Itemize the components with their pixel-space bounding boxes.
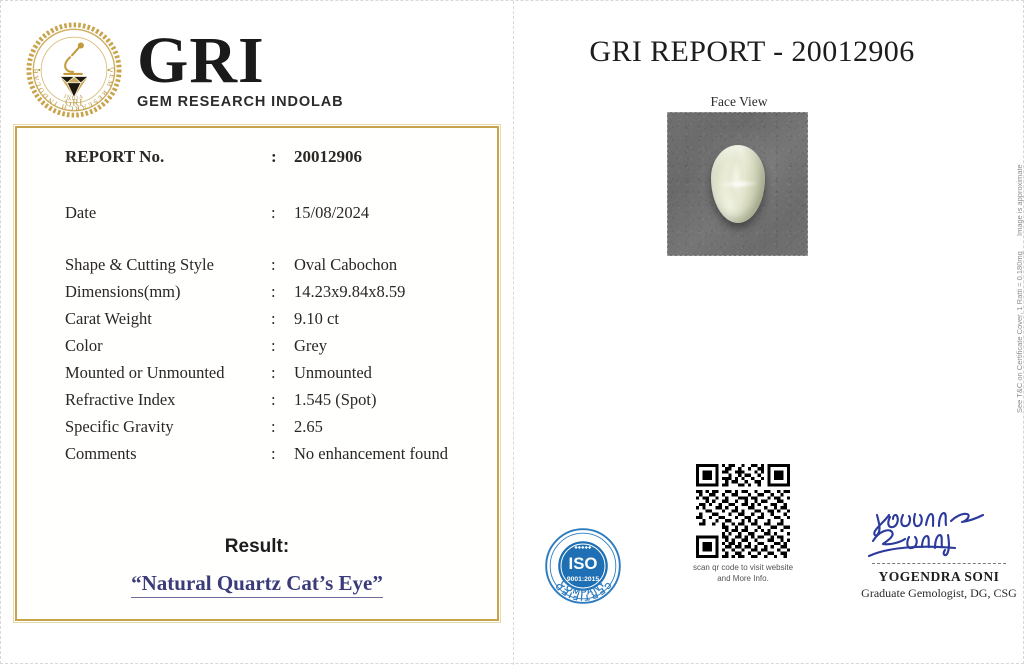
gemstone-photo	[667, 112, 808, 256]
row-value: 15/08/2024	[294, 203, 448, 255]
signature-section: YOGENDRA SONI Graduate Gemologist, DG, C…	[853, 501, 1024, 601]
gri-seal-icon: GEM RESEARCH INDOLAB INDIA	[25, 21, 123, 119]
row-separator: :	[271, 309, 294, 336]
row-value: No enhancement found	[294, 444, 448, 464]
handwritten-signature-icon	[853, 501, 1024, 563]
brand-acronym: GRI	[137, 30, 344, 93]
signatory-role: Graduate Gemologist, DG, CSG	[853, 586, 1024, 601]
table-row: Refractive Index : 1.545 (Spot)	[65, 390, 448, 417]
brand-full-name: GEM RESEARCH INDOLAB	[137, 94, 344, 110]
row-label: Comments	[65, 444, 271, 464]
row-separator: :	[271, 282, 294, 309]
qr-caption-line2: and More Info.	[717, 574, 769, 583]
result-section: Result: “Natural Quartz Cat’s Eye”	[15, 536, 499, 598]
row-value: Grey	[294, 336, 448, 363]
row-label: Color	[65, 336, 271, 363]
right-panel: GRI REPORT - 20012906 Face View ISO 9001	[513, 1, 1024, 665]
row-separator: :	[271, 336, 294, 363]
table-row: Mounted or Unmounted : Unmounted	[65, 363, 448, 390]
row-value: 14.23x9.84x8.59	[294, 282, 448, 309]
signatory-name: YOGENDRA SONI	[853, 569, 1024, 585]
table-row: Specific Gravity : 2.65	[65, 417, 448, 444]
svg-text:GRI: GRI	[65, 98, 83, 108]
row-label: Dimensions(mm)	[65, 282, 271, 309]
row-label: Mounted or Unmounted	[65, 363, 271, 390]
qr-section: scan qr code to visit website and More I…	[689, 464, 797, 584]
side-note-terms: See T&C on Certificate Cover, 1 Ratti = …	[1015, 251, 1024, 413]
row-value: 2.65	[294, 417, 448, 444]
row-value: 9.10 ct	[294, 309, 448, 336]
svg-text:9001:2015: 9001:2015	[567, 576, 599, 583]
row-separator: :	[271, 203, 294, 255]
row-value: 1.545 (Spot)	[294, 390, 448, 417]
qr-caption-line1: scan qr code to visit website	[693, 563, 793, 572]
row-value: Unmounted	[294, 363, 448, 390]
left-panel: GEM RESEARCH INDOLAB INDIA	[1, 1, 513, 665]
svg-text:◆◆◆◆◆: ◆◆◆◆◆	[575, 544, 593, 549]
row-label: Refractive Index	[65, 390, 271, 417]
row-value: 20012906	[294, 147, 448, 203]
qr-caption: scan qr code to visit website and More I…	[689, 563, 797, 584]
photo-caption: Face View	[513, 94, 965, 110]
signature-line	[872, 563, 1006, 564]
row-separator: :	[271, 390, 294, 417]
certificate-page: GEM RESEARCH INDOLAB INDIA	[0, 0, 1024, 664]
svg-text:ISO: ISO	[569, 554, 598, 573]
side-note-image-approximate: Image is approximate	[1015, 164, 1024, 236]
table-row: Dimensions(mm) : 14.23x9.84x8.59	[65, 282, 448, 309]
chatoyancy-band	[716, 181, 758, 187]
row-label: REPORT No.	[65, 147, 271, 203]
qr-code-icon[interactable]	[696, 464, 790, 558]
row-separator: :	[271, 147, 294, 203]
row-label: Carat Weight	[65, 309, 271, 336]
table-row: REPORT No. : 20012906	[65, 147, 448, 203]
brand-header: GEM RESEARCH INDOLAB INDIA	[25, 21, 344, 119]
row-separator: :	[271, 417, 294, 444]
table-row: Color : Grey	[65, 336, 448, 363]
row-label: Shape & Cutting Style	[65, 255, 271, 282]
table-row: Comments : No enhancement found	[65, 444, 448, 464]
row-value: Oval Cabochon	[294, 255, 448, 282]
row-label: Date	[65, 203, 271, 255]
page-title: GRI REPORT - 20012906	[513, 35, 991, 69]
row-label: Specific Gravity	[65, 417, 271, 444]
table-row: Shape & Cutting Style : Oval Cabochon	[65, 255, 448, 282]
result-value: “Natural Quartz Cat’s Eye”	[131, 571, 383, 598]
row-separator: :	[271, 255, 294, 282]
row-separator: :	[271, 444, 294, 464]
table-row: Carat Weight : 9.10 ct	[65, 309, 448, 336]
table-row: Date : 15/08/2024	[65, 203, 448, 255]
report-details-table: REPORT No. : 20012906 Date : 15/08/2024 …	[65, 147, 448, 464]
brand-wordmark: GRI GEM RESEARCH INDOLAB	[137, 30, 344, 111]
result-label: Result:	[15, 536, 499, 558]
iso-certified-badge-icon: ISO 9001:2015 ◆◆◆◆◆ CERTIFIED COMPANY	[543, 526, 623, 606]
row-separator: :	[271, 363, 294, 390]
